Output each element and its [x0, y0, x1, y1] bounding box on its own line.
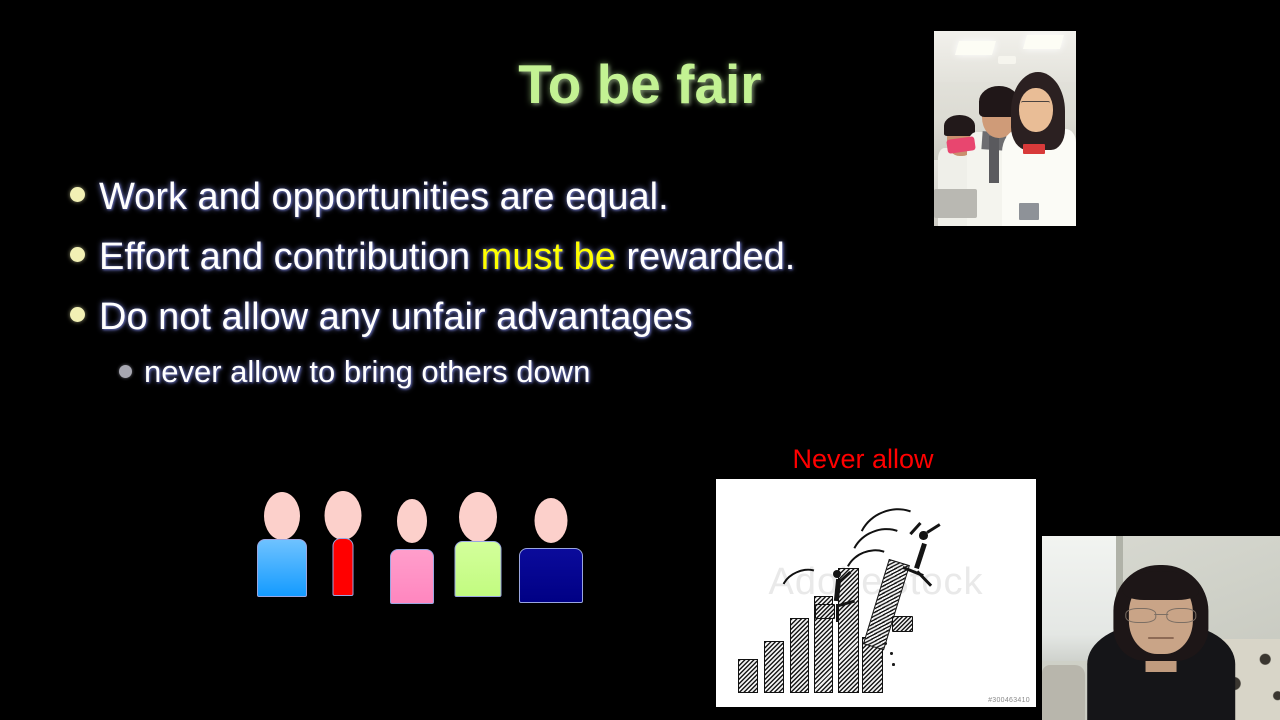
- sketch-kicker-leg: [836, 604, 839, 622]
- ceiling-light-icon: [1023, 35, 1064, 49]
- highlight-must-be: must be: [481, 236, 616, 278]
- team-photo: [934, 31, 1076, 226]
- sub-bullet-text: never allow to bring others down: [144, 352, 590, 392]
- person-head-icon: [397, 499, 427, 543]
- photo-laptop-icon: [934, 189, 977, 218]
- photo-person-2-tie: [989, 136, 999, 183]
- never-allow-caption: Never allow: [716, 444, 1010, 475]
- webcam-person-glasses-icon: [1125, 608, 1196, 621]
- sketch-briefcase-icon: [892, 616, 913, 632]
- person-head-icon: [264, 492, 300, 540]
- webcam-person-fringe: [1123, 571, 1199, 600]
- presentation-slide: To be fair Work and opportunities are eq…: [0, 0, 1280, 720]
- person-icon-4: [455, 492, 500, 597]
- photo-person-3-glasses-icon: [1021, 101, 1051, 110]
- stock-image-id: #300463410: [988, 697, 1030, 704]
- person-body-icon: [454, 541, 501, 597]
- sketch-debris: [881, 657, 883, 659]
- bullet-text-2: Effort and contribution must be rewarded…: [99, 232, 795, 282]
- glasses-lens-left: [1125, 608, 1156, 623]
- glasses-bridge: [1154, 614, 1168, 615]
- sketch-kicker-head: [833, 570, 841, 578]
- bullet-list: Work and opportunities are equal. Effort…: [70, 172, 950, 394]
- bullet-text-1: Work and opportunities are equal.: [99, 172, 669, 222]
- webcam-video-panel[interactable]: [1042, 536, 1280, 720]
- person-body-icon: [332, 538, 353, 596]
- webcam-couch-arm: [1042, 665, 1085, 720]
- bullet-text-3: Do not allow any unfair advantages: [99, 292, 693, 342]
- person-icon-5: [520, 498, 582, 603]
- page-title: To be fair: [0, 52, 1280, 116]
- sketch-debris: [892, 663, 895, 666]
- sub-bullet-item: never allow to bring others down: [119, 352, 950, 394]
- stock-illustration: AdobeStock #3004634: [716, 479, 1036, 707]
- sketch-briefcase-icon: [815, 604, 835, 619]
- photo-person-3-id-card: [1019, 203, 1039, 221]
- sketch-debris: [890, 652, 892, 654]
- bullet-item-2: Effort and contribution must be rewarded…: [70, 232, 950, 284]
- sketch-bar: [738, 659, 758, 693]
- person-icon-3: [391, 499, 433, 604]
- person-body-icon: [519, 548, 583, 603]
- person-body-icon: [390, 549, 434, 604]
- person-body-icon: [257, 539, 307, 597]
- webcam-person-mouth: [1148, 637, 1174, 639]
- glasses-lens-right: [1166, 608, 1197, 623]
- bullet-dot-icon: [70, 187, 85, 202]
- bullet-item-3: Do not allow any unfair advantages: [70, 292, 950, 344]
- person-icon-2: [324, 491, 361, 596]
- sketch-bar: [764, 641, 784, 693]
- bullet-dot-icon: [70, 307, 85, 322]
- sketch-bar: [790, 618, 810, 693]
- photo-person-1-hair: [944, 115, 975, 136]
- person-head-icon: [324, 491, 361, 540]
- ceiling-light-icon: [998, 56, 1016, 64]
- bullet-item-1: Work and opportunities are equal.: [70, 172, 950, 224]
- photo-person-3-badge: [1023, 144, 1044, 154]
- person-head-icon: [459, 492, 497, 542]
- ceiling-light-icon: [955, 41, 996, 55]
- bullet-dot-icon: [70, 247, 85, 262]
- sub-bullet-dot-icon: [119, 365, 132, 378]
- person-icon-1: [258, 492, 306, 597]
- person-head-icon: [535, 498, 568, 543]
